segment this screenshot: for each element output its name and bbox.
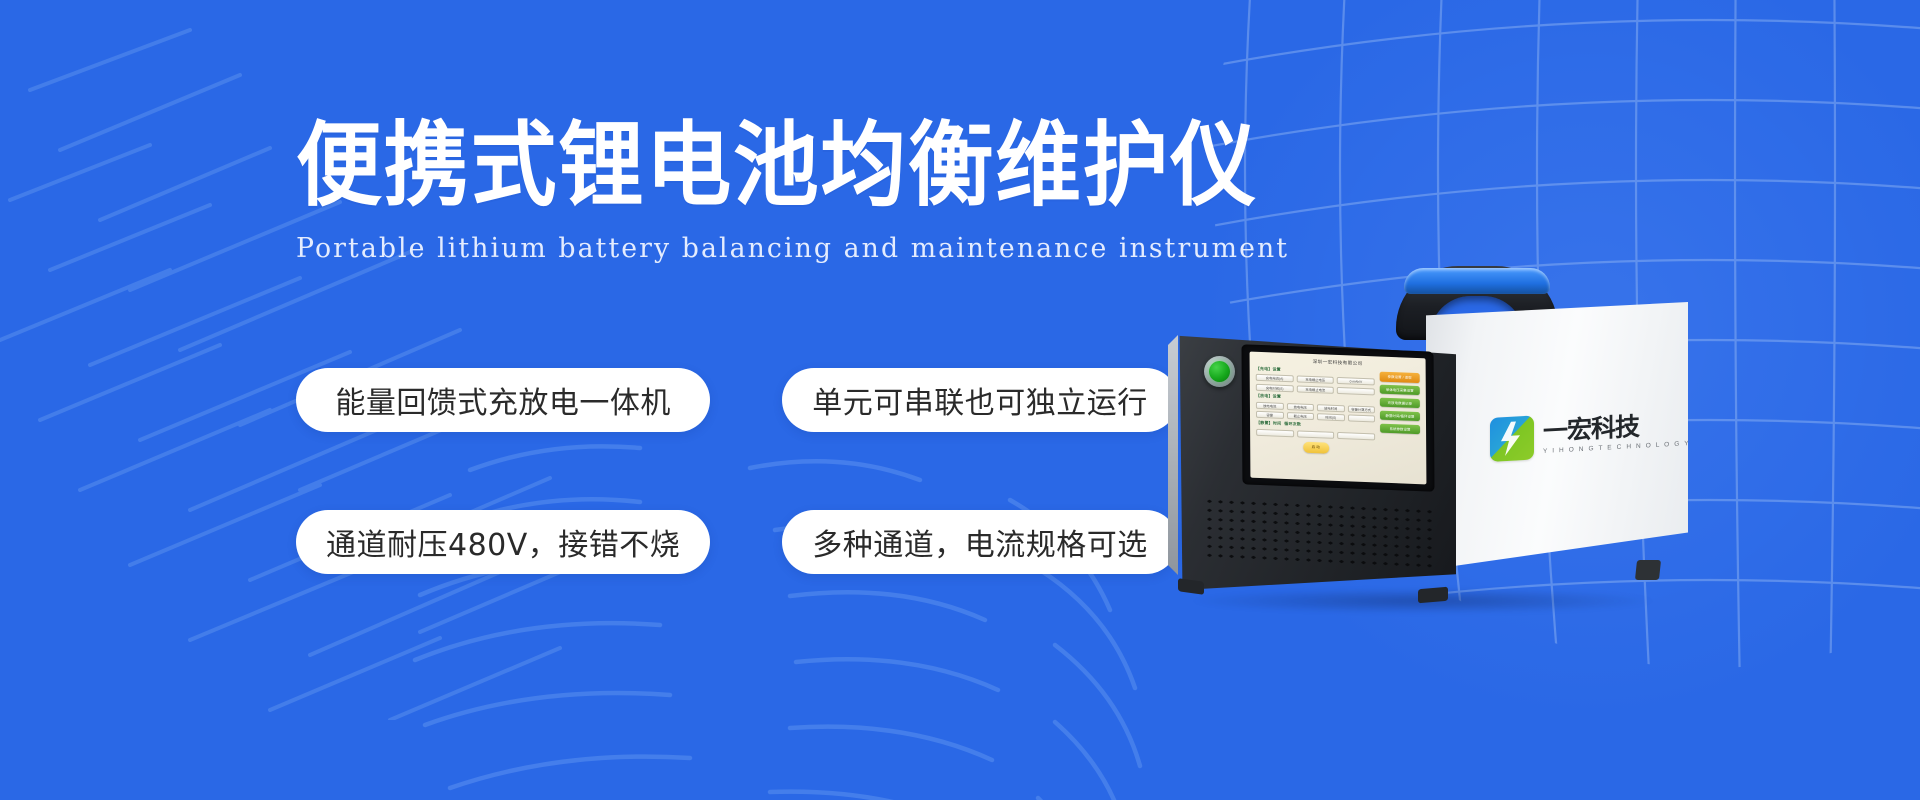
feature-pill[interactable]: 通道耐压480V，接错不烧	[296, 510, 710, 574]
screen-field[interactable]: 放电电流	[1256, 401, 1284, 409]
promo-banner: 便携式锂电池均衡维护仪 Portable lithium battery bal…	[0, 0, 1920, 800]
screen-side-buttons: 参数设置 / 读取 单体电压采集设置 充放电数据记录 静置时间/循环设置 系统参…	[1380, 371, 1421, 480]
power-led-icon	[1209, 361, 1230, 382]
screen-field[interactable]: 充电截止电压	[1296, 376, 1334, 384]
feature-pill[interactable]: 能量回馈式充放电一体机	[296, 368, 710, 432]
device-foot	[1635, 560, 1661, 580]
screen-start-button[interactable]: 启 动	[1303, 442, 1329, 454]
screen-button[interactable]: 参数设置 / 读取	[1380, 372, 1420, 383]
device-foot	[1178, 578, 1204, 595]
screen-button[interactable]: 充放电数据记录	[1380, 397, 1420, 408]
device-left-edge	[1168, 330, 1178, 580]
screen-field-row	[1256, 429, 1375, 441]
screen-field[interactable]	[1337, 432, 1375, 440]
feature-pill[interactable]: 多种通道，电流规格可选	[782, 510, 1178, 574]
ventilation-grille	[1204, 497, 1434, 570]
screen-field[interactable]: 充电截止电流	[1296, 385, 1334, 393]
screen-field[interactable]: 充电时间(S)	[1256, 384, 1294, 392]
page-subtitle: Portable lithium battery balancing and m…	[296, 234, 1355, 264]
brand-logo: 一宏科技 Y I H O N G T E C H N O L O G Y	[1490, 403, 1670, 467]
screen-field[interactable]: 截止电压	[1286, 412, 1314, 420]
screen-field[interactable]	[1256, 429, 1294, 437]
touchscreen[interactable]: 深圳一宏科技有限公司 【充电】设置 充电电流(A) 充电截止电压 0 mAh/V…	[1250, 352, 1427, 485]
screen-field[interactable]	[1337, 387, 1375, 395]
feature-pill-list: 能量回馈式充放电一体机 单元可串联也可独立运行 通道耐压480V，接错不烧 多种…	[296, 368, 1096, 574]
screen-field[interactable]: 容量计算方式	[1347, 405, 1375, 413]
power-button[interactable]	[1204, 356, 1235, 387]
screen-button[interactable]: 系统参数设置	[1380, 423, 1420, 434]
screen-button[interactable]: 静置时间/循环设置	[1380, 410, 1420, 421]
screen-field[interactable]	[1347, 414, 1375, 422]
screen-button[interactable]: 单体电压采集设置	[1380, 384, 1420, 395]
screen-field[interactable]: 时间(S)	[1317, 413, 1345, 421]
screen-field[interactable]: 容量	[1256, 411, 1284, 419]
screen-field[interactable]: 0 mAh/V	[1337, 377, 1375, 385]
touchscreen-bezel: 深圳一宏科技有限公司 【充电】设置 充电电流(A) 充电截止电压 0 mAh/V…	[1242, 344, 1435, 491]
screen-field[interactable]	[1297, 430, 1335, 438]
screen-group-label: 【静置】时间	[1256, 420, 1281, 427]
lightning-bolt-icon	[1490, 415, 1534, 461]
banner-content: 便携式锂电池均衡维护仪 Portable lithium battery bal…	[0, 0, 1920, 800]
feature-pill[interactable]: 单元可串联也可独立运行	[782, 368, 1178, 432]
page-title: 便携式锂电池均衡维护仪	[296, 120, 1291, 212]
hero-text-block: 便携式锂电池均衡维护仪 Portable lithium battery bal…	[296, 120, 1366, 264]
screen-field[interactable]: 充电电流(A)	[1256, 374, 1294, 382]
brand-name: 一宏科技	[1543, 411, 1690, 444]
screen-field[interactable]: 放电电压	[1286, 403, 1314, 411]
screen-group-label: 循环次数	[1284, 421, 1301, 428]
screen-field[interactable]: 放电时间	[1317, 404, 1345, 412]
product-device-image: 一宏科技 Y I H O N G T E C H N O L O G Y 深圳一…	[1168, 288, 1688, 618]
device-foot	[1418, 587, 1448, 604]
